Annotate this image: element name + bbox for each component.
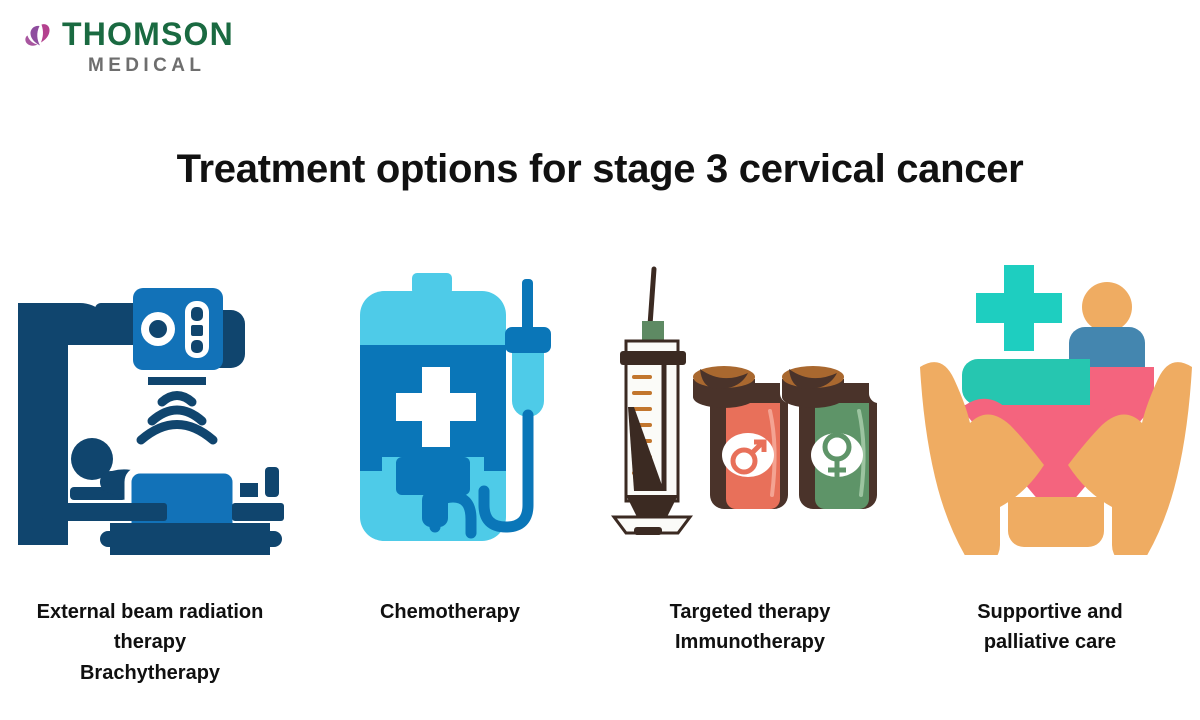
option-targeted-therapy: Targeted therapy Immunotherapy: [600, 255, 900, 658]
butterfly-heart-icon: [22, 22, 58, 62]
syringe-and-hormone-vials-icon: [600, 255, 900, 555]
caption-line: Supportive and: [915, 597, 1185, 627]
page-title: Treatment options for stage 3 cervical c…: [0, 147, 1200, 192]
radiation-therapy-machine-icon: [0, 255, 300, 555]
option-supportive-palliative-care: Supportive and palliative care: [900, 255, 1200, 658]
caption-line: Targeted therapy: [615, 597, 885, 627]
caption-line: Brachytherapy: [15, 658, 285, 688]
supportive-palliative-care-hands-icon: [900, 255, 1200, 555]
option-caption-chemotherapy: Chemotherapy: [315, 597, 585, 627]
brand-logo: THOMSON MEDICAL: [22, 18, 234, 75]
caption-line: Chemotherapy: [315, 597, 585, 627]
caption-line: palliative care: [915, 627, 1185, 657]
option-caption-supportive-palliative-care: Supportive and palliative care: [915, 597, 1185, 658]
caption-line: therapy: [15, 627, 285, 657]
option-caption-external-beam-radiation: External beam radiation therapy Brachyth…: [15, 597, 285, 688]
brand-name-secondary: MEDICAL: [88, 56, 234, 75]
brand-name-primary: THOMSON: [62, 18, 234, 50]
iv-drip-bag-icon: [300, 255, 600, 555]
option-caption-targeted-therapy: Targeted therapy Immunotherapy: [615, 597, 885, 658]
treatment-options-row: External beam radiation therapy Brachyth…: [0, 255, 1200, 688]
option-chemotherapy: Chemotherapy: [300, 255, 600, 627]
caption-line: External beam radiation: [15, 597, 285, 627]
caption-line: Immunotherapy: [615, 627, 885, 657]
option-external-beam-radiation: External beam radiation therapy Brachyth…: [0, 255, 300, 688]
